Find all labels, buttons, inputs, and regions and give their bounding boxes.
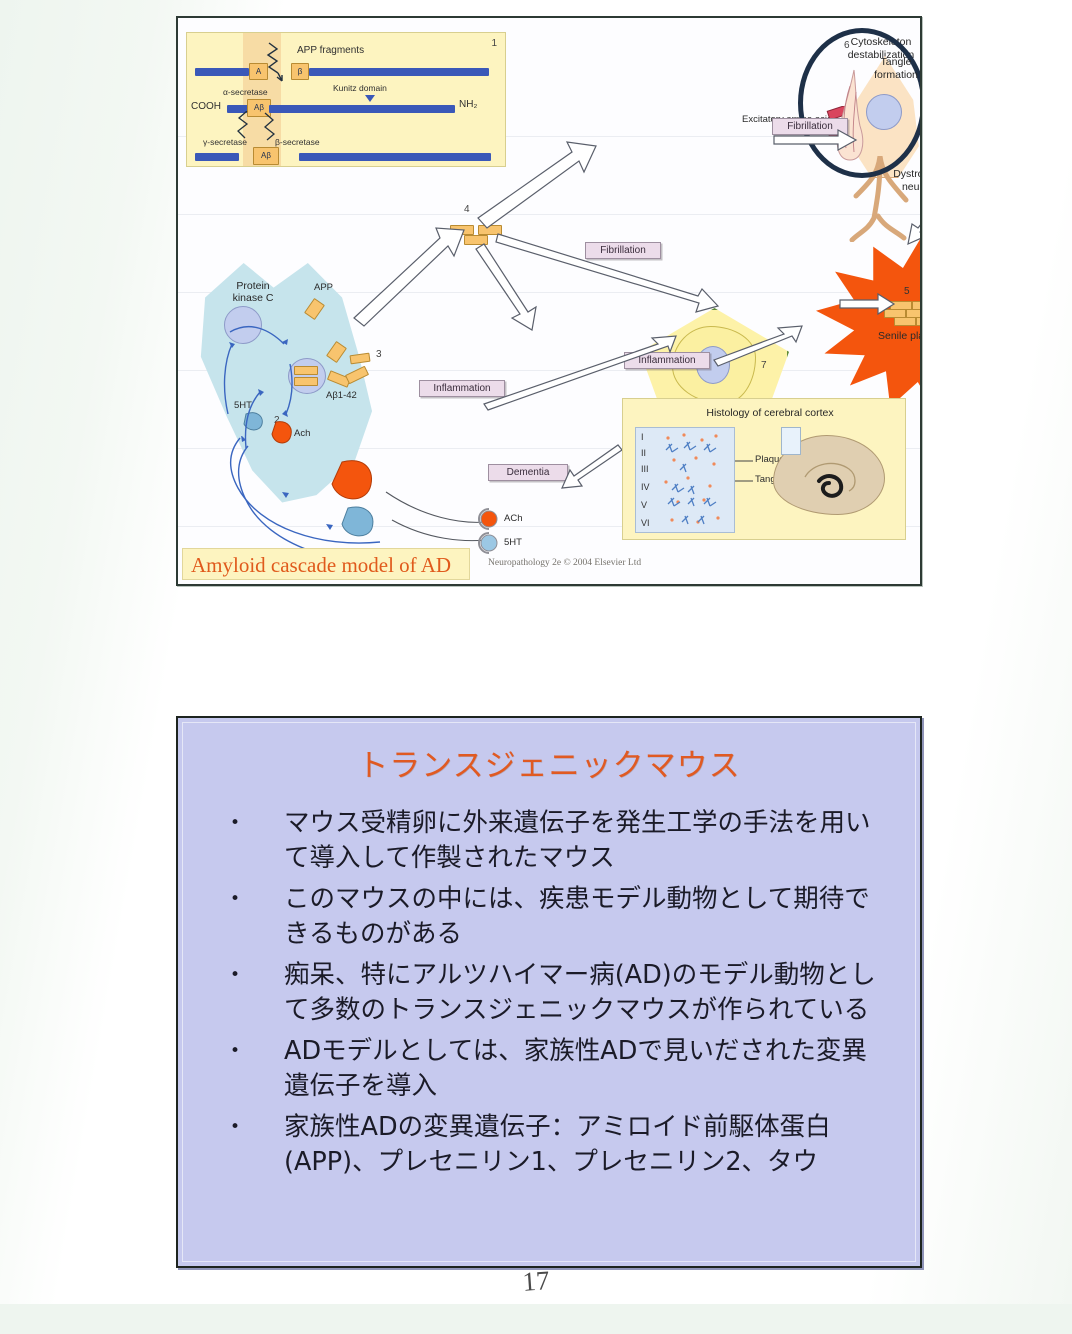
process-box-dementia: Dementia — [488, 464, 568, 481]
bullet-text: このマウスの中には、疾患モデル動物として期待できるものがある — [284, 882, 892, 952]
bullet-text: ADモデルとしては、家族性ADで見いだされた変異遺伝子を導入 — [284, 1034, 892, 1104]
list-item: • ADモデルとしては、家族性ADで見いだされた変異遺伝子を導入 — [224, 1034, 892, 1104]
diagram-title: Amyloid cascade model of AD — [182, 548, 470, 580]
process-box-inflammation-2: Inflammation — [419, 380, 505, 397]
plaque-tangle-leader-lines — [735, 457, 755, 487]
alpha-secretase-label: α-secretase — [223, 87, 268, 97]
nh2-label: NH₂ — [459, 99, 477, 110]
box-beta: β — [291, 63, 309, 80]
list-item: • 家族性ADの変異遺伝子：アミロイド前駆体蛋白(APP)、プレセニリン1、プレ… — [224, 1110, 892, 1180]
projection-curves — [384, 478, 488, 546]
kunitz-domain-label: Kunitz domain — [333, 83, 387, 93]
process-box-fibrillation-2: Fibrillation — [585, 242, 661, 259]
cortex-layer-I: I — [641, 432, 644, 442]
cortex-layer-V: V — [641, 500, 647, 510]
beta-secretase-label: β-secretase — [275, 137, 320, 147]
kunitz-marker-icon — [365, 95, 377, 103]
step-number-3: 3 — [376, 349, 382, 360]
list-item: • 痴呆、特にアルツハイマー病(AD)のモデル動物として多数のトランスジェニック… — [224, 958, 892, 1028]
cortex-layer-III: III — [641, 464, 649, 474]
cooh-label: COOH — [191, 101, 221, 112]
legend-5ht-label: 5HT — [504, 537, 522, 548]
slide2-bullet-list: • マウス受精卵に外来遺伝子を発生工学の手法を用いて導入して作製されたマウス •… — [224, 806, 892, 1186]
bullet-marker: • — [224, 806, 284, 841]
bullet-text: マウス受精卵に外来遺伝子を発生工学の手法を用いて導入して作製されたマウス — [284, 806, 892, 876]
slide-amyloid-cascade-diagram: 1 APP fragments A β α-secretase Kunitz d… — [176, 16, 922, 586]
box-abeta-fragment: Aβ — [253, 147, 279, 165]
step-number-1: 1 — [491, 38, 497, 49]
bullet-marker: • — [224, 882, 284, 917]
senile-plaque-label: Senile plaque — [878, 330, 922, 342]
alpha-cleavage-arrow — [265, 41, 291, 83]
list-item: • このマウスの中には、疾患モデル動物として期待できるものがある — [224, 882, 892, 952]
app-label: APP — [314, 282, 333, 293]
legend-5ht-icon — [478, 532, 500, 554]
cortex-layer-IV: IV — [641, 482, 650, 492]
bullet-marker: • — [224, 1110, 284, 1145]
step-number-6: 6 — [844, 40, 850, 51]
histology-panel: Histology of cerebral cortex I II III IV… — [622, 398, 906, 540]
plaques-and-tangles-marks — [658, 430, 732, 530]
app-fragments-label: APP fragments — [297, 45, 364, 56]
process-box-fibrillation-1: Fibrillation — [772, 118, 848, 135]
app-processing-panel: 1 APP fragments A β α-secretase Kunitz d… — [186, 32, 506, 167]
list-item: • マウス受精卵に外来遺伝子を発生工学の手法を用いて導入して作製されたマウス — [224, 806, 892, 876]
brain-inner-detail — [801, 455, 861, 507]
step-number-4: 4 — [464, 204, 470, 215]
process-box-inflammation-1: Inflammation — [624, 352, 710, 369]
cortex-layer-II: II — [641, 448, 646, 458]
cortex-sample-box — [781, 427, 801, 455]
abeta-frag-c — [349, 353, 370, 365]
legend-ach-icon — [478, 508, 500, 530]
tangle-formation-label: Tangleformation — [864, 56, 922, 82]
diagram-credit: Neuropathology 2e © 2004 Elsevier Ltd — [488, 558, 641, 568]
bullet-marker: • — [224, 958, 284, 993]
scanned-page: 1 APP fragments A β α-secretase Kunitz d… — [0, 0, 1072, 1304]
bullet-text: 痴呆、特にアルツハイマー病(AD)のモデル動物として多数のトランスジェニックマウ… — [284, 958, 892, 1028]
slide-transgenic-mouse: トランスジェニックマウス • マウス受精卵に外来遺伝子を発生工学の手法を用いて導… — [176, 716, 922, 1268]
neurofibrillary-tangle-shape — [830, 68, 872, 164]
step-number-5: 5 — [904, 286, 910, 297]
step-number-7: 7 — [761, 360, 767, 371]
cortex-layers-image: I II III IV V VI — [635, 427, 735, 533]
cortex-layer-VI: VI — [641, 518, 650, 528]
protein-kinase-c-label: Proteinkinase C — [216, 280, 290, 304]
bullet-text: 家族性ADの変異遺伝子：アミロイド前駆体蛋白(APP)、プレセニリン1、プレセニ… — [284, 1110, 892, 1180]
histology-title: Histology of cerebral cortex — [685, 407, 855, 419]
slide2-title: トランスジェニックマウス — [178, 740, 920, 785]
gamma-secretase-label: γ-secretase — [203, 137, 247, 147]
legend-ach-label: ACh — [504, 513, 522, 524]
bullet-marker: • — [224, 1034, 284, 1069]
